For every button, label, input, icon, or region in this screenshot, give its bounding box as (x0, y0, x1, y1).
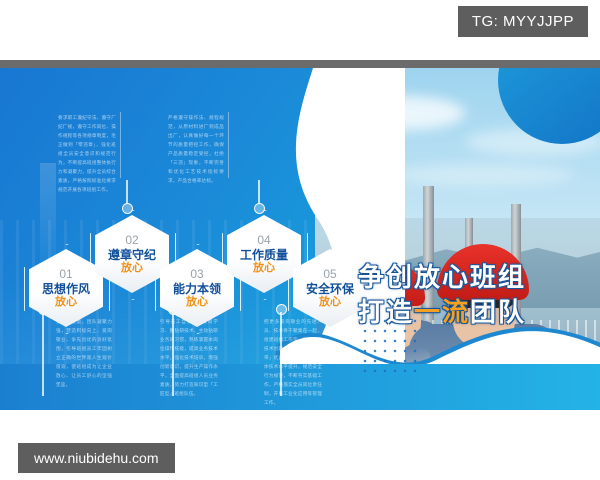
node-subtitle: 放心 (253, 263, 275, 274)
paragraph-divider (120, 112, 121, 178)
node-number: 05 (323, 268, 336, 280)
node-subtitle: 放心 (186, 297, 208, 308)
node-subtitle: 放心 (319, 297, 341, 308)
headline-line-1: 争创放心班组 (358, 264, 598, 290)
paragraph-block: 引导员工自觉养成爱岗学习、勤钻研技术、主动钻研业务的习惯，熟练掌握本岗位操作技能… (160, 318, 218, 399)
headline-line2-after: 团队 (470, 297, 526, 327)
node-subtitle: 放心 (121, 263, 143, 274)
node-title: 遵章守纪 (108, 249, 156, 261)
connector-dot (276, 304, 287, 315)
tag-badge: TG: MYYJJPP (458, 6, 588, 37)
node-number: 01 (59, 268, 72, 280)
node-title: 工作质量 (240, 249, 288, 261)
headline: 争创放心班组 打造一流团队 (358, 264, 598, 325)
paragraph-block: 要求职工遵纪守法、遵守厂纪厂规，遵守工作岗位、操作规程等各项规章制度，毛正做到「… (58, 114, 116, 195)
cloud-shape (395, 164, 575, 186)
node-title: 能力本领 (173, 283, 221, 295)
headline-line-2: 打造一流团队 (358, 299, 598, 325)
node-number: 02 (125, 234, 138, 246)
paragraph-block: 把更多爱岗敬业的先进人员、技术骨干聚集在一起，组建班组工作室，充分发挥技术创新优… (264, 318, 322, 408)
connector-line (42, 312, 44, 396)
headline-line2-accent: 一流 (414, 297, 470, 327)
paragraph-block: 严格遵守操作法、规程规范，从原材料进厂到成品出厂，认真做好每一个环节的质量把控工… (168, 114, 224, 186)
paragraph-divider (228, 112, 229, 178)
node-number: 04 (257, 234, 270, 246)
connector-line (126, 180, 128, 204)
node-subtitle: 放心 (55, 297, 77, 308)
node-number: 03 (190, 268, 203, 280)
poster-panel: 争创放心班组 打造一流团队 要求职工遵纪守法、遵守厂纪厂规，遵守工作岗位、操作规… (0, 68, 600, 410)
gray-strip (0, 60, 600, 68)
node-title: 安全环保 (306, 283, 354, 295)
screenshot-canvas: TG: MYYJJPP (0, 0, 600, 480)
headline-line2-before: 打造 (358, 297, 414, 327)
url-watermark: www.niubidehu.com (18, 443, 175, 473)
node-title: 思想作风 (42, 283, 90, 295)
connector-line (258, 180, 260, 204)
paragraph-divider (330, 112, 331, 178)
